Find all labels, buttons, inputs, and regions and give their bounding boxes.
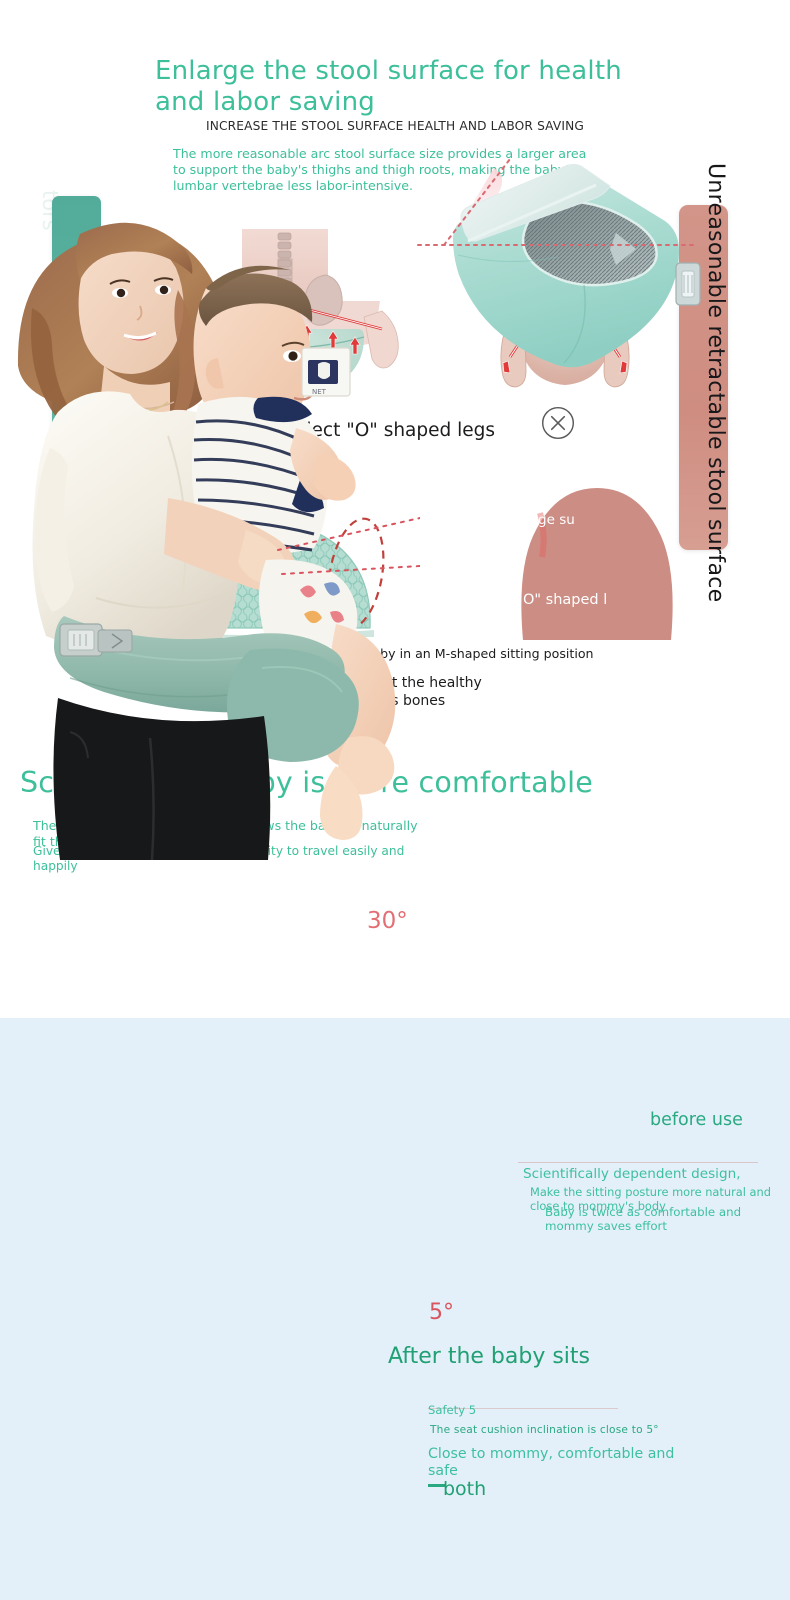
before-use-label: before use xyxy=(650,1110,760,1131)
x-circle-icon xyxy=(540,405,576,441)
product-seat-pink-photo xyxy=(490,455,705,640)
pink-seat-label-top: easonable storage su xyxy=(430,512,680,528)
seat-inclination-note: The seat cushion inclination is close to… xyxy=(430,1424,690,1438)
pink-seat-label-bottom: to cause "O" shaped l xyxy=(450,592,680,608)
angle-30-label: 30° xyxy=(367,908,408,934)
mother-and-baby-photo: NET xyxy=(0,198,420,860)
scientifically-dependent-label: Scientifically dependent design, xyxy=(523,1166,773,1182)
before-use-divider xyxy=(518,1162,758,1163)
section2-background-panel xyxy=(0,1018,790,1600)
angle-5-label: 5° xyxy=(429,1300,454,1325)
safety-label: Safety 5 xyxy=(428,1403,476,1417)
product-hipseat-photo xyxy=(398,145,708,395)
comfort-effort-note: Baby is twice as comfortable and mommy s… xyxy=(545,1205,785,1234)
product-marketing-page: Enlarge the stool surface for health and… xyxy=(0,0,790,1600)
close-to-mommy-note: Close to mommy, comfortable and safe xyxy=(428,1446,688,1481)
section1-title: Enlarge the stool surface for health and… xyxy=(155,56,625,117)
after-baby-sits-label: After the baby sits xyxy=(388,1344,688,1369)
section1-subtitle: INCREASE THE STOOL SURFACE HEALTH AND LA… xyxy=(206,119,626,133)
svg-text:NET: NET xyxy=(312,388,327,396)
both-label: both xyxy=(443,1478,486,1500)
